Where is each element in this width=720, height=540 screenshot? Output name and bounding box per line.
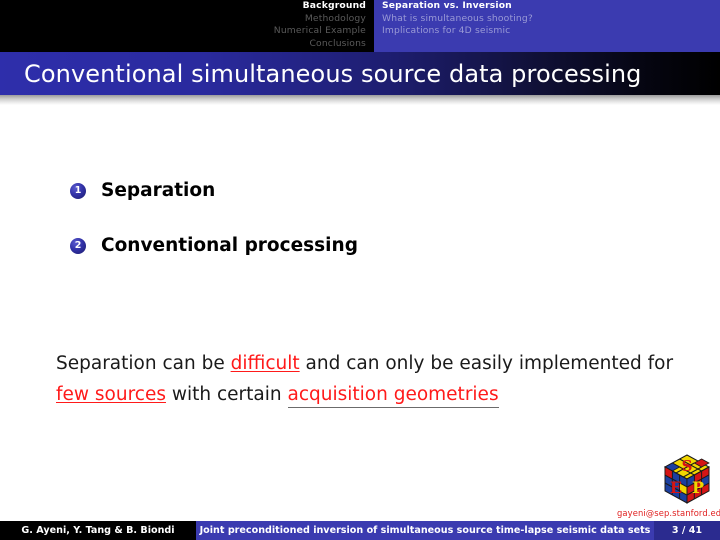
nav-subsections-right: Separation vs. Inversion What is simulta… bbox=[374, 0, 720, 52]
footer-presentation-title: Joint preconditioned inversion of simult… bbox=[196, 521, 654, 540]
highlight-acquisition-geometries: acquisition geometries bbox=[288, 384, 499, 408]
sep-rubiks-cube-icon: S E P bbox=[659, 451, 715, 507]
nav-subsection-separation-vs-inversion[interactable]: Separation vs. Inversion bbox=[382, 0, 512, 13]
paragraph-text-part2: and can only be easily implemented for bbox=[300, 353, 673, 374]
nav-section-methodology[interactable]: Methodology bbox=[305, 13, 366, 26]
nav-section-conclusions[interactable]: Conclusions bbox=[309, 38, 366, 51]
nav-section-numerical-example[interactable]: Numerical Example bbox=[274, 25, 366, 38]
enum-label-conventional-processing: Conventional processing bbox=[101, 235, 358, 256]
title-bar-shadow bbox=[0, 95, 720, 105]
nav-subsection-implications-for-4d-seismic[interactable]: Implications for 4D seismic bbox=[382, 25, 510, 38]
enum-badge-1: 1 bbox=[70, 183, 86, 199]
list-item: 2 Conventional processing bbox=[70, 235, 358, 256]
slide-content: 1 Separation 2 Conventional processing S… bbox=[0, 105, 720, 515]
svg-text:P: P bbox=[692, 478, 704, 497]
highlight-difficult: difficult bbox=[231, 353, 300, 374]
enum-badge-2: 2 bbox=[70, 238, 86, 254]
slide-title-bar: Conventional simultaneous source data pr… bbox=[0, 52, 720, 95]
nav-section-background[interactable]: Background bbox=[303, 0, 366, 13]
navigation-header: Background Methodology Numerical Example… bbox=[0, 0, 720, 52]
paragraph-text-part3: with certain bbox=[166, 384, 288, 405]
contact-email[interactable]: gayeni@sep.stanford.ed bbox=[617, 508, 720, 518]
paragraph-text-part1: Separation can be bbox=[56, 353, 231, 374]
slide-footer: G. Ayeni, Y. Tang & B. Biondi Joint prec… bbox=[0, 521, 720, 540]
sep-logo: S E P bbox=[659, 451, 715, 507]
enum-label-separation: Separation bbox=[101, 180, 215, 201]
slide-title: Conventional simultaneous source data pr… bbox=[0, 60, 642, 88]
nav-subsection-what-is-simultaneous-shooting[interactable]: What is simultaneous shooting? bbox=[382, 13, 533, 26]
footer-page-number: 3 / 41 bbox=[654, 521, 720, 540]
list-item: 1 Separation bbox=[70, 180, 358, 201]
svg-text:E: E bbox=[670, 478, 682, 497]
svg-text:S: S bbox=[682, 457, 693, 475]
highlight-few-sources: few sources bbox=[56, 384, 166, 405]
footer-authors: G. Ayeni, Y. Tang & B. Biondi bbox=[0, 521, 196, 540]
body-paragraph: Separation can be difficult and can only… bbox=[56, 348, 676, 410]
nav-sections-left: Background Methodology Numerical Example… bbox=[0, 0, 374, 52]
enumerated-list: 1 Separation 2 Conventional processing bbox=[70, 180, 358, 290]
